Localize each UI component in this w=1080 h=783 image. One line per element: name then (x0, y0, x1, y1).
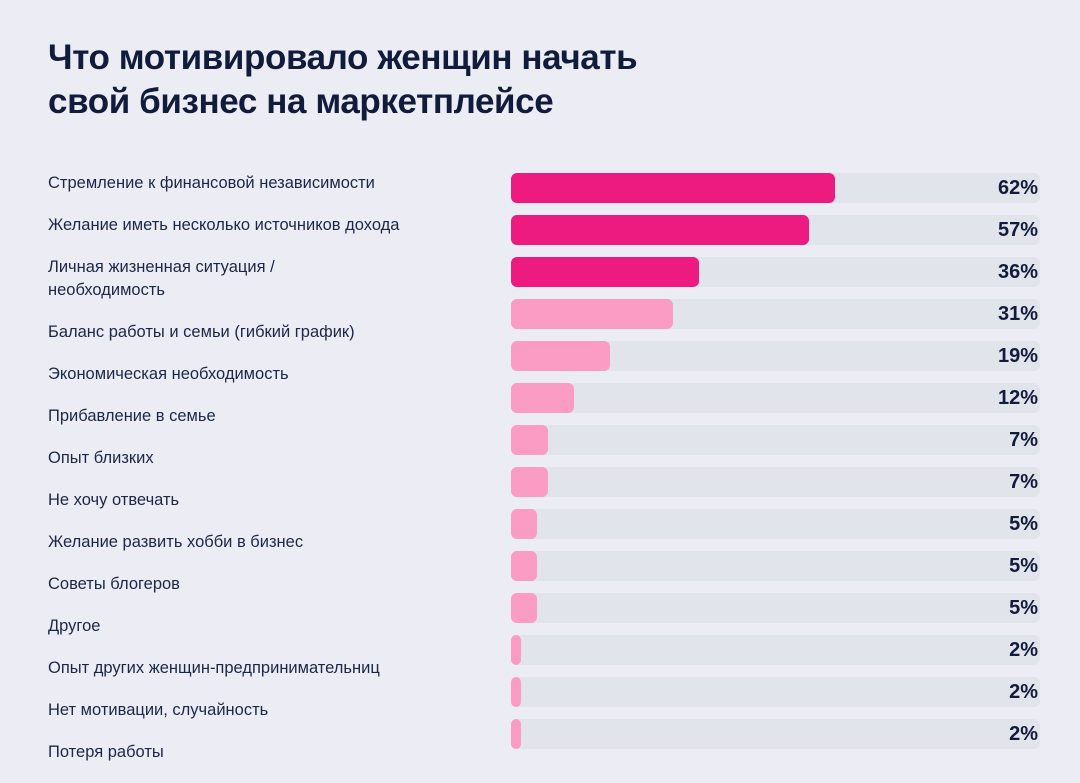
bar-row: 7% (511, 425, 1040, 455)
bar-value-label: 12% (998, 383, 1040, 413)
bar-value-label: 5% (1009, 593, 1040, 623)
horizontal-bar-chart: Стремление к финансовой независимостиЖел… (0, 0, 1080, 762)
category-label: Личная жизненная ситуация / необходимост… (48, 256, 498, 302)
category-label: Потеря работы (48, 741, 498, 764)
bar-row: 2% (511, 635, 1040, 665)
category-label: Экономическая необходимость (48, 363, 498, 386)
bar-row: 5% (511, 509, 1040, 539)
bar-row: 62% (511, 173, 1040, 203)
bar-value-label: 36% (998, 257, 1040, 287)
bar-value-label: 2% (1009, 719, 1040, 749)
bar-track (511, 635, 1040, 665)
category-label: Желание развить хобби в бизнес (48, 531, 498, 554)
category-label: Баланс работы и семьи (гибкий график) (48, 321, 498, 344)
bar-fill (511, 341, 610, 371)
bar-track (511, 593, 1040, 623)
category-label: Нет мотивации, случайность (48, 699, 498, 722)
bar-row: 31% (511, 299, 1040, 329)
bar-row: 2% (511, 719, 1040, 749)
bar-track (511, 719, 1040, 749)
bar-track (511, 425, 1040, 455)
bar-fill (511, 173, 835, 203)
bar-value-label: 7% (1009, 467, 1040, 497)
bar-fill (511, 677, 521, 707)
bar-value-label: 2% (1009, 635, 1040, 665)
bar-row: 5% (511, 551, 1040, 581)
category-label: Прибавление в семье (48, 405, 498, 428)
chart-page: Что мотивировало женщин начать свой бизн… (0, 0, 1080, 762)
category-label: Желание иметь несколько источников доход… (48, 214, 498, 237)
bar-row: 2% (511, 677, 1040, 707)
bar-value-label: 7% (1009, 425, 1040, 455)
bar-track (511, 509, 1040, 539)
category-label: Советы блогеров (48, 573, 498, 596)
bar-value-label: 62% (998, 173, 1040, 203)
bar-fill (511, 593, 537, 623)
bar-value-label: 57% (998, 215, 1040, 245)
category-label: Не хочу отвечать (48, 489, 498, 512)
category-label: Опыт других женщин-предпринимательниц (48, 657, 498, 680)
bar-value-label: 5% (1009, 509, 1040, 539)
bar-track (511, 383, 1040, 413)
category-label: Опыт близких (48, 447, 498, 470)
bar-column: 62%57%36%31%19%12%7%7%5%5%5%2%2%2% (511, 173, 1040, 761)
category-label: Стремление к финансовой независимости (48, 172, 498, 195)
bar-fill (511, 551, 537, 581)
bar-row: 7% (511, 467, 1040, 497)
bar-row: 36% (511, 257, 1040, 287)
bar-value-label: 19% (998, 341, 1040, 371)
bar-row: 12% (511, 383, 1040, 413)
bar-fill (511, 257, 699, 287)
bar-fill (511, 467, 548, 497)
bar-fill (511, 383, 574, 413)
bar-value-label: 2% (1009, 677, 1040, 707)
bar-fill (511, 719, 521, 749)
bar-fill (511, 425, 548, 455)
bar-track (511, 467, 1040, 497)
bar-value-label: 31% (998, 299, 1040, 329)
bar-fill (511, 215, 809, 245)
bar-fill (511, 635, 521, 665)
bar-value-label: 5% (1009, 551, 1040, 581)
bar-fill (511, 299, 673, 329)
bar-row: 5% (511, 593, 1040, 623)
bar-row: 19% (511, 341, 1040, 371)
category-label: Другое (48, 615, 498, 638)
bar-track (511, 677, 1040, 707)
bar-fill (511, 509, 537, 539)
bar-track (511, 551, 1040, 581)
category-label-column: Стремление к финансовой независимостиЖел… (48, 172, 498, 783)
bar-row: 57% (511, 215, 1040, 245)
